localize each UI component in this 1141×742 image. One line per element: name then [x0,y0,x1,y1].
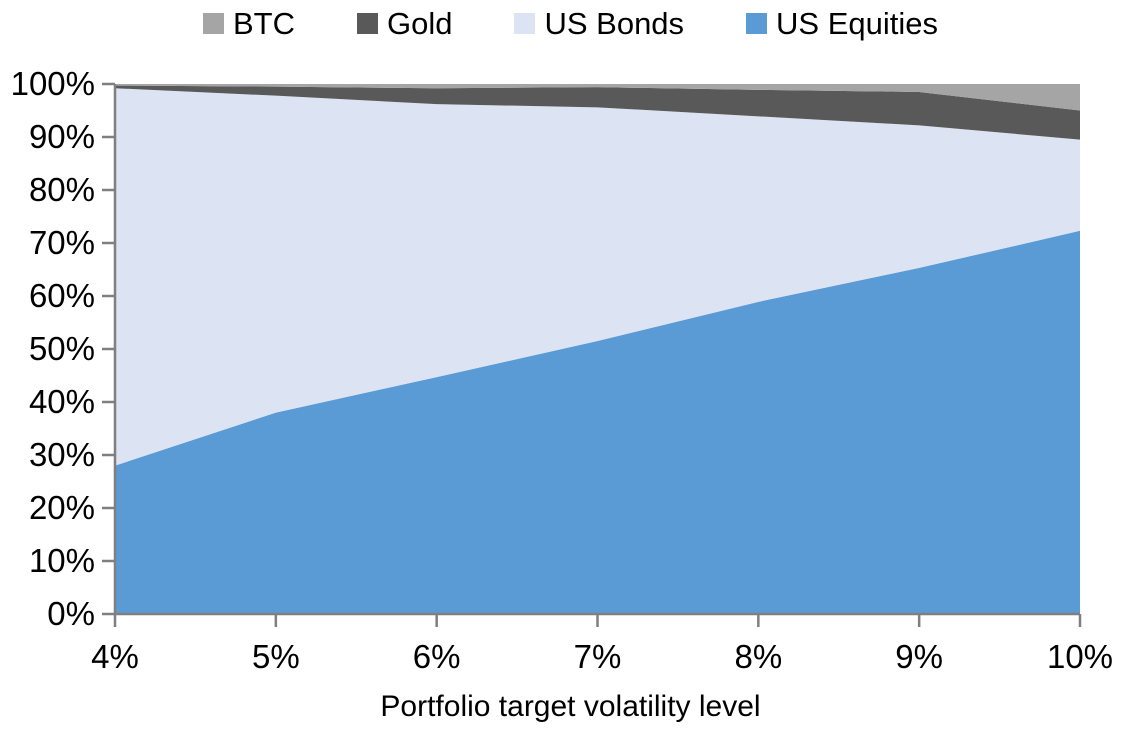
y-axis-tick-label: 20% [29,491,95,524]
area-series-group [115,84,1080,614]
x-axis-tick-label: 5% [206,640,346,673]
x-axis-tick-label: 7% [528,640,668,673]
x-axis-tick-label: 8% [688,640,828,673]
y-axis-tick-label: 30% [29,438,95,471]
y-axis-tick-label: 10% [29,544,95,577]
y-axis-tick-label: 40% [29,385,95,418]
y-axis-tick-label: 90% [29,120,95,153]
x-axis-tick-label: 6% [367,640,507,673]
y-axis-tick-label: 70% [29,226,95,259]
x-axis-tick-label: 4% [45,640,185,673]
x-axis-title: Portfolio target volatility level [0,690,1141,724]
y-axis-tick-label: 60% [29,279,95,312]
stacked-area-chart: BTC Gold US Bonds US Equities 0%10%20%30… [0,0,1141,742]
y-axis-tick-label: 50% [29,332,95,365]
y-axis-tick-label: 100% [11,67,95,100]
plot-area: 0%10%20%30%40%50%60%70%80%90%100% 4%5%6%… [0,0,1141,742]
y-axis-tick-label: 80% [29,173,95,206]
plot-svg [0,0,1141,742]
y-axis-tick-label: 0% [47,597,95,630]
x-axis-tick-label: 10% [1010,640,1141,673]
x-axis-tick-label: 9% [849,640,989,673]
